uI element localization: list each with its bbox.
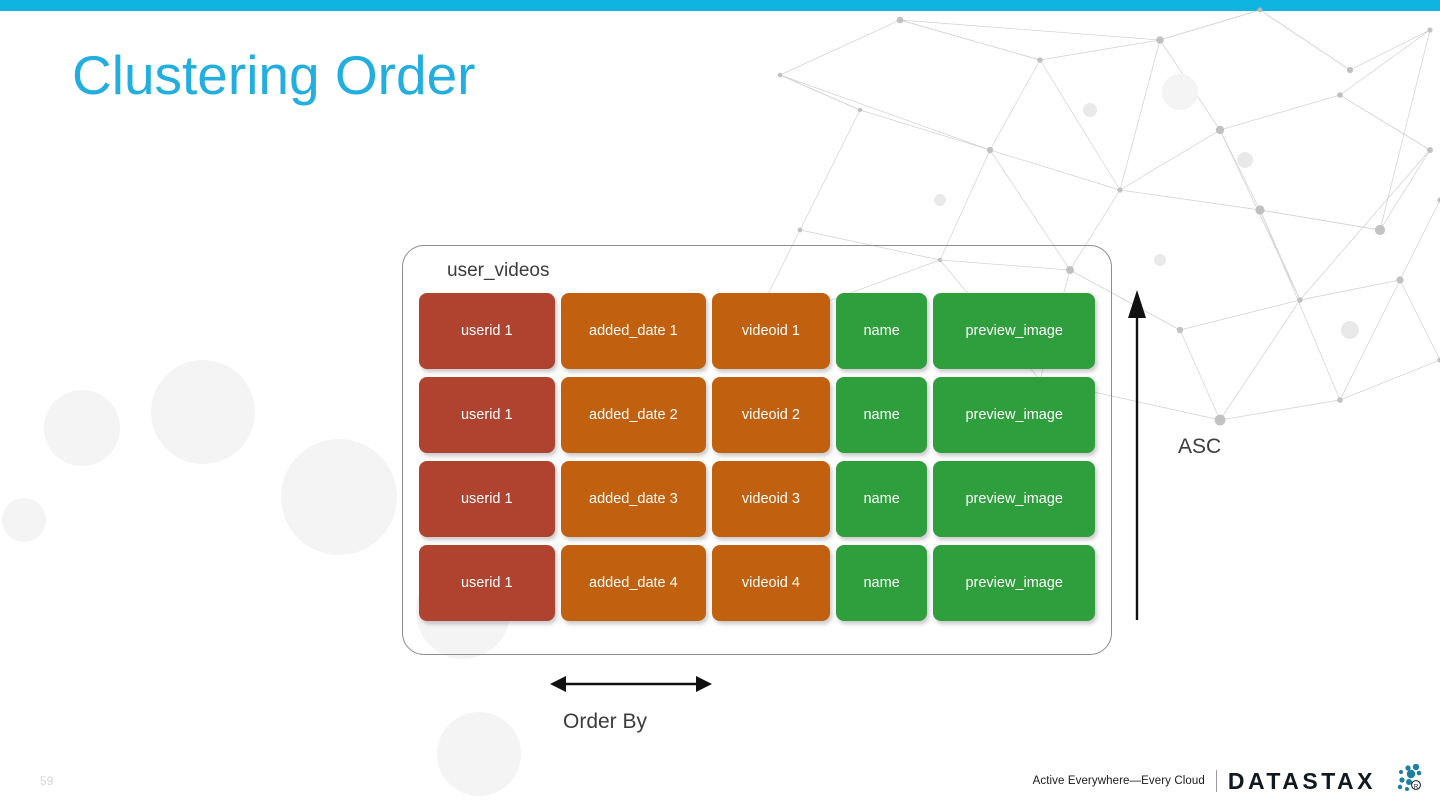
table-row: userid 1 added_date 3 videoid 3 name pre… — [419, 461, 1095, 545]
cell-userid: userid 1 — [419, 293, 555, 369]
cell-label: userid 1 — [461, 407, 513, 423]
slide-canvas: Clustering Order user_videos userid 1 ad… — [0, 0, 1440, 810]
page-title: Clustering Order — [72, 45, 475, 106]
cell-label: preview_image — [965, 491, 1063, 507]
cell-videoid: videoid 3 — [712, 461, 830, 537]
arrow-up-icon — [1120, 288, 1154, 620]
datastax-logo: Active Everywhere—Every Cloud DATASTAX R — [1033, 766, 1424, 796]
cell-label: userid 1 — [461, 491, 513, 507]
cell-label: name — [863, 491, 899, 507]
svg-text:R: R — [1414, 785, 1419, 791]
cell-label: name — [863, 407, 899, 423]
cell-name: name — [836, 461, 928, 537]
cell-userid: userid 1 — [419, 377, 555, 453]
page-number: 59 — [40, 774, 53, 788]
cell-label: userid 1 — [461, 323, 513, 339]
cell-added-date: added_date 2 — [561, 377, 707, 453]
table-row: userid 1 added_date 1 videoid 1 name pre… — [419, 293, 1095, 377]
cell-name: name — [836, 377, 928, 453]
cell-label: added_date 3 — [589, 491, 678, 507]
order-by-label: Order By — [563, 710, 647, 734]
cell-name: name — [836, 293, 928, 369]
datastax-dots-icon: R — [1378, 764, 1424, 798]
cell-preview-image: preview_image — [933, 461, 1095, 537]
cell-label: name — [863, 575, 899, 591]
cell-label: added_date 4 — [589, 575, 678, 591]
cell-added-date: added_date 3 — [561, 461, 707, 537]
datastax-wordmark: DATASTAX — [1228, 768, 1376, 795]
cell-label: added_date 1 — [589, 323, 678, 339]
cell-label: videoid 1 — [742, 323, 800, 339]
cell-label: added_date 2 — [589, 407, 678, 423]
cell-label: preview_image — [965, 407, 1063, 423]
cell-videoid: videoid 2 — [712, 377, 830, 453]
cell-label: videoid 2 — [742, 407, 800, 423]
cell-label: videoid 4 — [742, 575, 800, 591]
cell-preview-image: preview_image — [933, 293, 1095, 369]
cell-label: videoid 3 — [742, 491, 800, 507]
cell-userid: userid 1 — [419, 461, 555, 537]
table-container: user_videos userid 1 added_date 1 videoi… — [402, 245, 1112, 655]
table-name-label: user_videos — [447, 260, 549, 282]
asc-label: ASC — [1178, 435, 1221, 459]
cell-preview-image: preview_image — [933, 545, 1095, 621]
arrow-left-right-icon — [548, 670, 714, 698]
cell-label: name — [863, 323, 899, 339]
cell-name: name — [836, 545, 928, 621]
table-row: userid 1 added_date 2 videoid 2 name pre… — [419, 377, 1095, 461]
cell-label: preview_image — [965, 323, 1063, 339]
footer-tagline: Active Everywhere—Every Cloud — [1033, 775, 1205, 787]
footer-divider — [1216, 770, 1217, 792]
cell-videoid: videoid 1 — [712, 293, 830, 369]
cell-preview-image: preview_image — [933, 377, 1095, 453]
cell-added-date: added_date 4 — [561, 545, 707, 621]
top-accent-bar — [0, 0, 1440, 11]
cell-videoid: videoid 4 — [712, 545, 830, 621]
table-row: userid 1 added_date 4 videoid 4 name pre… — [419, 545, 1095, 629]
cell-added-date: added_date 1 — [561, 293, 707, 369]
partition-grid: userid 1 added_date 1 videoid 1 name pre… — [419, 293, 1095, 629]
cell-userid: userid 1 — [419, 545, 555, 621]
cell-label: userid 1 — [461, 575, 513, 591]
cell-label: preview_image — [965, 575, 1063, 591]
